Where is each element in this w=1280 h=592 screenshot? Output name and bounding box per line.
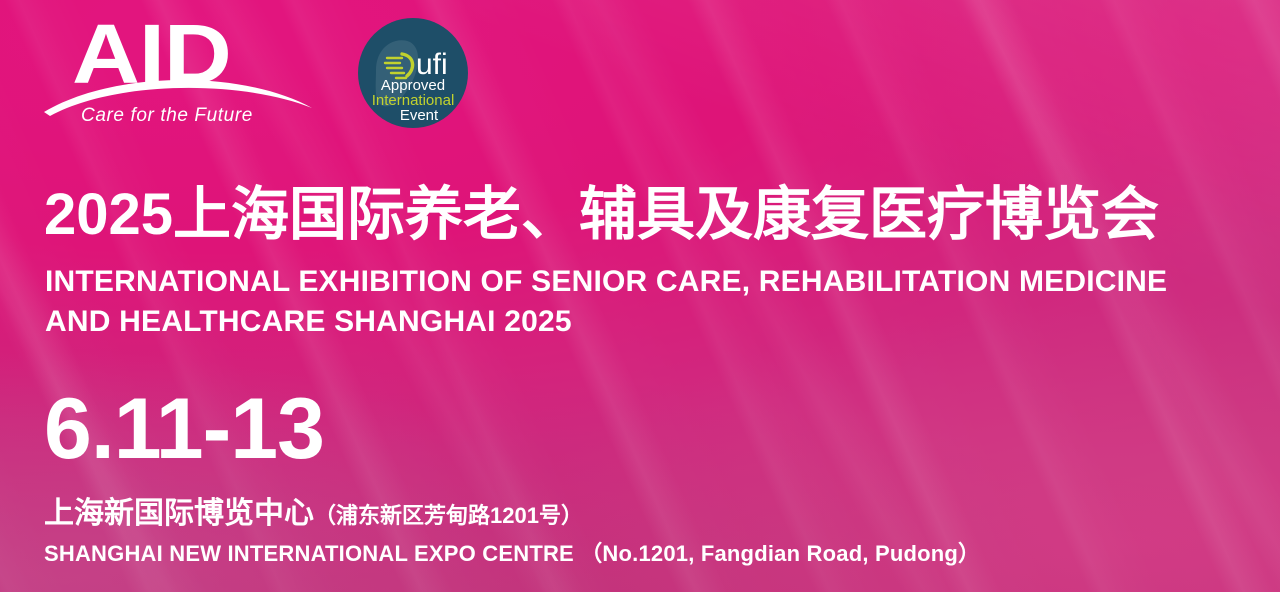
event-title-english-line1: INTERNATIONAL EXHIBITION OF SENIOR CARE,… <box>45 262 1244 302</box>
event-title-english: INTERNATIONAL EXHIBITION OF SENIOR CARE,… <box>45 262 1244 342</box>
venue-name-chinese: 上海新国际博览中心 <box>44 497 314 530</box>
ufi-approved-event-badge[interactable]: ufi Approved International Event <box>358 18 468 128</box>
exhibition-banner: AID Care for the Future ufi Approved Int… <box>0 0 1280 592</box>
venue-name-english: SHANGHAI NEW INTERNATIONAL EXPO CENTRE <box>44 541 574 566</box>
event-date: 6.11-13 <box>44 383 324 475</box>
venue-address-english: （No.1201, Fangdian Road, Pudong） <box>580 541 980 566</box>
venue-address-chinese: （浦东新区芳甸路1201号） <box>314 503 583 528</box>
aid-logo[interactable]: AID Care for the Future <box>44 10 314 132</box>
ufi-event-text: Event <box>400 107 439 124</box>
event-title-chinese: 2025上海国际养老、辅具及康复医疗博览会 <box>44 180 1244 250</box>
logo-row: AID Care for the Future ufi Approved Int… <box>44 10 544 132</box>
venue-english: SHANGHAI NEW INTERNATIONAL EXPO CENTRE （… <box>44 539 1244 569</box>
event-title-english-line2: AND HEALTHCARE SHANGHAI 2025 <box>45 302 1244 342</box>
headline-block: 2025上海国际养老、辅具及康复医疗博览会 INTERNATIONAL EXHI… <box>44 180 1244 342</box>
aid-tagline: Care for the Future <box>81 105 253 127</box>
venue-block: 上海新国际博览中心（浦东新区芳甸路1201号） SHANGHAI NEW INT… <box>44 495 1244 569</box>
venue-chinese: 上海新国际博览中心（浦东新区芳甸路1201号） <box>44 495 1244 535</box>
